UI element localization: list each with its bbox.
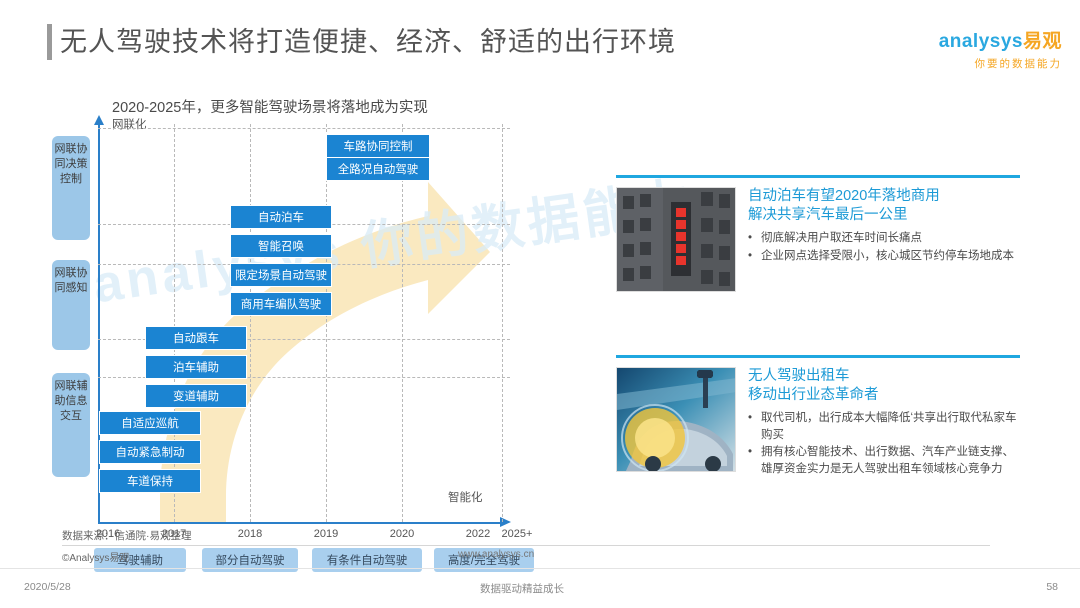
chart-node[interactable]: 商用车编队驾驶 (230, 292, 332, 316)
parking-garage-thumbnail (616, 187, 736, 292)
gridline-v (326, 124, 327, 522)
page-footer: 2020/5/28 数据驱动精益成长 58 (0, 568, 1080, 608)
card-bullet: •拥有核心智能技术、出行数据、汽车产业链支撑、雄厚资金实力是无人驾驶出租车领域核… (748, 444, 1020, 477)
page-header: 无人驾驶技术将打造便捷、经济、舒适的出行环境 analysys易观 你要的数据能… (0, 0, 1080, 82)
growth-arrow-shape (98, 124, 510, 524)
y-category-pill: 网联协同感知 (52, 260, 90, 350)
chart-node[interactable]: 变道辅助 (145, 384, 247, 408)
card-bullet: •企业网点选择受限小，核心城区节约停车场地成本 (748, 248, 1020, 265)
site-url: www.analysys.cn (458, 549, 534, 560)
copyright-note: ©Analysys易观 (62, 549, 129, 564)
y-axis-label: 网联化 (112, 116, 147, 132)
chart-node[interactable]: 自动跟车 (145, 326, 247, 350)
chart-plot-area: analysys 你的数据能力 网联化 智能化 车路协同控制 全路况自动驾驶 自… (98, 124, 510, 576)
bullet-dot-icon: • (748, 410, 761, 443)
card-bullet-text: 取代司机，出行成本大幅降低‘共享出行取代私家车购买 (761, 410, 1020, 443)
chart-node[interactable]: 全路况自动驾驶 (326, 157, 430, 181)
gridline-v (402, 124, 403, 522)
x-tick-label: 2018 (218, 528, 282, 540)
gridline-h (98, 128, 510, 129)
y-category-pill: 网联协同决策控制 (52, 136, 90, 240)
x-tick-label: 2019 (294, 528, 358, 540)
gridline-v (250, 124, 251, 522)
title-accent-bar (47, 24, 52, 60)
analysys-logo: analysys易观 你要的数据能力 (939, 26, 1062, 71)
x-tick-label: 2020 (370, 528, 434, 540)
gridline-v (502, 124, 503, 522)
source-note: 数据来源：信通院·易观整理 (62, 528, 192, 543)
card-bullet-list: •彻底解决用户取还车时间长痛点 •企业网点选择受限小，核心城区节约停车场地成本 (748, 230, 1020, 264)
y-category-pill: 网联辅助信息交互 (52, 373, 90, 477)
chart-node[interactable]: 车路协同控制 (326, 134, 430, 158)
card-bullet-text: 拥有核心智能技术、出行数据、汽车产业链支撑、雄厚资金实力是无人驾驶出租车领域核心… (761, 444, 1020, 477)
chart-node[interactable]: 自适应巡航 (99, 411, 201, 435)
x-axis (98, 522, 502, 524)
logo-wordmark-cn: 易观 (1023, 31, 1062, 52)
card-heading-line2: 移动出行业态革命者 (748, 386, 1020, 405)
x-axis-label: 智能化 (448, 489, 483, 505)
chart-node[interactable]: 车道保持 (99, 469, 201, 493)
card-heading-line2: 解决共享汽车最后一公里 (748, 206, 1020, 225)
card-bullet-text: 彻底解决用户取还车时间长痛点 (761, 230, 1020, 247)
card-bullet: •彻底解决用户取还车时间长痛点 (748, 230, 1020, 247)
footer-page-number: 58 (1046, 581, 1058, 593)
chart-node[interactable]: 泊车辅助 (145, 355, 247, 379)
chart-node[interactable]: 自动紧急制动 (99, 440, 201, 464)
autonomous-taxi-thumbnail (616, 367, 736, 472)
chart-node[interactable]: 智能召唤 (230, 234, 332, 258)
footer-date: 2020/5/28 (24, 581, 71, 593)
card-heading-line1: 自动泊车有望2020年落地商用 (748, 187, 1020, 206)
divider (62, 545, 990, 546)
logo-wordmark-en: analysys (939, 31, 1023, 52)
bullet-dot-icon: • (748, 248, 761, 265)
chart-node[interactable]: 自动泊车 (230, 205, 332, 229)
y-axis-arrow (94, 115, 104, 125)
logo-tagline: 你要的数据能力 (939, 56, 1062, 71)
card-bullet-text: 企业网点选择受限小，核心城区节约停车场地成本 (761, 248, 1020, 265)
card-accent-rule (616, 355, 1020, 358)
y-axis (98, 124, 100, 524)
info-card: 自动泊车有望2020年落地商用 解决共享汽车最后一公里 •彻底解决用户取还车时间… (616, 175, 1020, 292)
card-accent-rule (616, 175, 1020, 178)
page-title: 无人驾驶技术将打造便捷、经济、舒适的出行环境 (60, 20, 676, 59)
logo-wordmark: analysys易观 (939, 26, 1062, 53)
card-bullet: •取代司机，出行成本大幅降低‘共享出行取代私家车购买 (748, 410, 1020, 443)
chart-node[interactable]: 限定场景自动驾驶 (230, 263, 332, 287)
card-bullet-list: •取代司机，出行成本大幅降低‘共享出行取代私家车购买 •拥有核心智能技术、出行数… (748, 410, 1020, 477)
info-card: 无人驾驶出租车 移动出行业态革命者 •取代司机，出行成本大幅降低‘共享出行取代私… (616, 355, 1020, 478)
footer-slogan: 数据驱动精益成长 (480, 581, 564, 596)
card-heading-line1: 无人驾驶出租车 (748, 367, 1020, 386)
bullet-dot-icon: • (748, 444, 761, 477)
x-tick-label: 2025+ (490, 528, 544, 540)
bullet-dot-icon: • (748, 230, 761, 247)
chart-panel: 2020-2025年，更多智能驾驶场景将落地成为实现 analysys 你的数据… (0, 88, 600, 568)
chart-title: 2020-2025年，更多智能驾驶场景将落地成为实现 (112, 96, 428, 117)
